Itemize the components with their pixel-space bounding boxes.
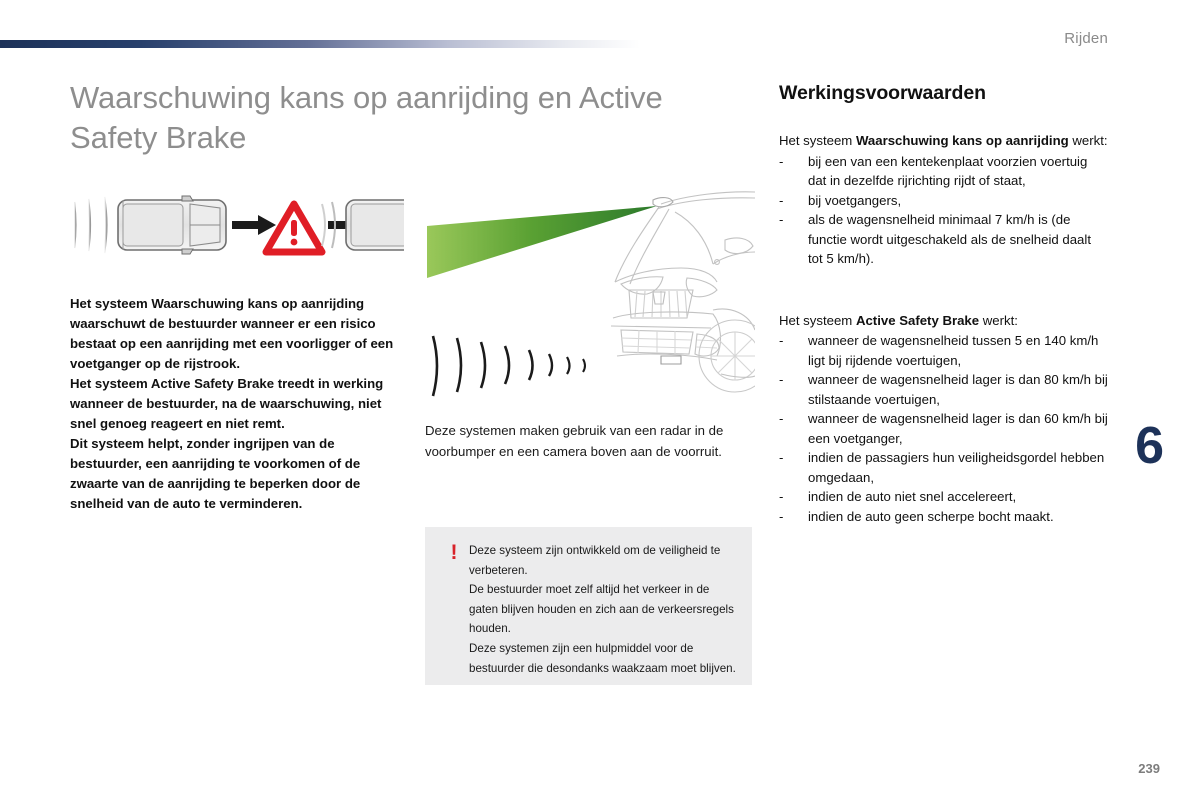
list-item: - wanneer de wagensnelheid tussen 5 en 1…	[779, 331, 1109, 370]
warning-note-box: ! Deze systeem zijn ontwikkeld om de vei…	[425, 527, 752, 685]
list-item: - indien de auto geen scherpe bocht maak…	[779, 507, 1109, 527]
warning-exclamation-icon: !	[439, 541, 469, 675]
dash-bullet: -	[779, 370, 808, 409]
van-right-topview	[346, 196, 404, 254]
block-separator	[779, 269, 1109, 311]
warning-note-paragraph: Deze systeem zijn ontwikkeld om de veili…	[469, 541, 738, 580]
list-item-text: wanneer de wagensnelheid lager is dan 60…	[808, 409, 1109, 448]
van-radar-camera-figure	[425, 178, 755, 405]
block1-intro-pre: Het systeem	[779, 133, 856, 148]
radar-camera-svg	[425, 178, 755, 400]
list-item-text: indien de auto niet snel accelereert,	[808, 487, 1109, 507]
arrow-left	[232, 215, 276, 235]
list-item: - wanneer de wagensnelheid lager is dan …	[779, 409, 1109, 448]
page-title: Waarschuwing kans op aanrijding en Activ…	[70, 78, 690, 157]
list-item-text: als de wagensnelheid minimaal 7 km/h is …	[808, 210, 1109, 269]
block2-intro: Het systeem Active Safety Brake werkt:	[779, 311, 1109, 331]
chapter-number: 6	[1135, 420, 1164, 472]
list-item: - als de wagensnelheid minimaal 7 km/h i…	[779, 210, 1109, 269]
van-lineart	[611, 192, 755, 392]
warning-note-paragraph: Deze systemen zijn een hulpmiddel voor d…	[469, 639, 738, 678]
list-item-text: indien de passagiers hun veiligheidsgord…	[808, 448, 1109, 487]
left-paragraph: Het systeem Waarschuwing kans op aanrijd…	[70, 294, 400, 374]
list-item-text: bij een van een kentekenplaat voorzien v…	[808, 152, 1109, 191]
dash-bullet: -	[779, 507, 808, 527]
motion-lines-left	[74, 197, 107, 253]
camera-detection-cone	[427, 206, 657, 278]
list-item: - bij voetgangers,	[779, 191, 1109, 211]
two-vans-collision-warning-figure	[70, 186, 404, 264]
list-item: - wanneer de wagensnelheid lager is dan …	[779, 370, 1109, 409]
list-item: - bij een van een kentekenplaat voorzien…	[779, 152, 1109, 191]
block1-intro-post: werkt:	[1069, 133, 1108, 148]
list-item-text: bij voetgangers,	[808, 191, 1109, 211]
block2-list: - wanneer de wagensnelheid tussen 5 en 1…	[779, 331, 1109, 526]
left-body-text: Het systeem Waarschuwing kans op aanrijd…	[70, 294, 400, 514]
block2-intro-bold: Active Safety Brake	[856, 313, 979, 328]
manual-page: Rijden Waarschuwing kans op aanrijding e…	[0, 0, 1200, 800]
warning-note-text: Deze systeem zijn ontwikkeld om de veili…	[469, 541, 738, 675]
block2-intro-post: werkt:	[979, 313, 1018, 328]
block1-list: - bij een van een kentekenplaat voorzien…	[779, 152, 1109, 269]
block1-intro-bold: Waarschuwing kans op aanrijding	[856, 133, 1069, 148]
right-column: Werkingsvoorwaarden Het systeem Waarschu…	[779, 82, 1109, 526]
list-item-text: indien de auto geen scherpe bocht maakt.	[808, 507, 1109, 527]
dash-bullet: -	[779, 487, 808, 507]
dash-bullet: -	[779, 210, 808, 269]
list-item-text: wanneer de wagensnelheid tussen 5 en 140…	[808, 331, 1109, 370]
section-title: Werkingsvoorwaarden	[779, 82, 1109, 105]
header-section-label: Rijden	[1064, 30, 1108, 47]
dash-bullet: -	[779, 152, 808, 191]
list-item: - indien de passagiers hun veiligheidsgo…	[779, 448, 1109, 487]
dash-bullet: -	[779, 409, 808, 448]
header-gradient-bar	[0, 40, 640, 48]
left-paragraph: Het systeem Active Safety Brake treedt i…	[70, 374, 400, 434]
page-number: 239	[1138, 761, 1160, 776]
van-left-topview	[118, 196, 226, 254]
dash-bullet: -	[779, 448, 808, 487]
warning-triangle-icon	[266, 204, 322, 252]
list-item: - indien de auto niet snel accelereert,	[779, 487, 1109, 507]
warning-note-paragraph: De bestuurder moet zelf altijd het verke…	[469, 580, 738, 639]
left-column: Het systeem Waarschuwing kans op aanrijd…	[70, 186, 400, 514]
middle-column: Deze systemen maken gebruik van een rada…	[425, 178, 755, 462]
dash-bullet: -	[779, 191, 808, 211]
radar-wave-arcs	[433, 336, 585, 396]
block1-intro: Het systeem Waarschuwing kans op aanrijd…	[779, 131, 1109, 151]
figure-caption: Deze systemen maken gebruik van een rada…	[425, 421, 755, 462]
list-item-text: wanneer de wagensnelheid lager is dan 80…	[808, 370, 1109, 409]
block2-intro-pre: Het systeem	[779, 313, 856, 328]
dash-bullet: -	[779, 331, 808, 370]
collision-warning-svg	[70, 186, 404, 264]
left-paragraph: Dit systeem helpt, zonder ingrijpen van …	[70, 434, 400, 514]
